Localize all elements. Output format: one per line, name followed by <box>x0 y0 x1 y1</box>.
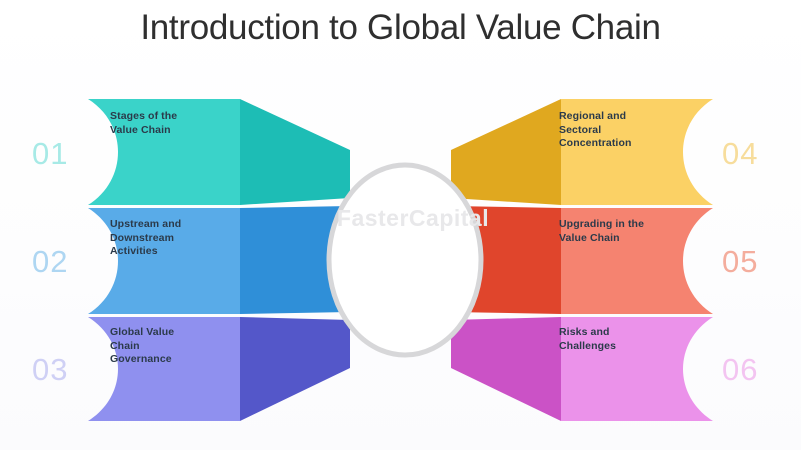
watermark-text: FasterCapital <box>318 205 508 232</box>
center-ellipse <box>329 165 481 355</box>
right-bar-4-side <box>451 99 561 205</box>
left-bar-3-side <box>240 317 350 421</box>
left-label-3: Global Value Chain Governance <box>110 326 240 367</box>
left-number-1: 01 <box>32 138 68 169</box>
slide-canvas: Introduction to Global Value Chain <box>0 0 801 450</box>
right-number-6: 06 <box>722 354 758 385</box>
left-bar-1-side <box>240 99 350 205</box>
right-bar-6-side <box>451 317 561 421</box>
right-label-4: Regional and Sectoral Concentration <box>559 110 689 151</box>
left-number-3: 03 <box>32 354 68 385</box>
left-label-2: Upstream and Downstream Activities <box>110 218 240 259</box>
right-label-5: Upgrading in the Value Chain <box>559 218 689 245</box>
right-label-6: Risks and Challenges <box>559 326 689 353</box>
right-number-4: 04 <box>722 138 758 169</box>
right-number-5: 05 <box>722 246 758 277</box>
left-label-1: Stages of the Value Chain <box>110 110 240 137</box>
left-number-2: 02 <box>32 246 68 277</box>
